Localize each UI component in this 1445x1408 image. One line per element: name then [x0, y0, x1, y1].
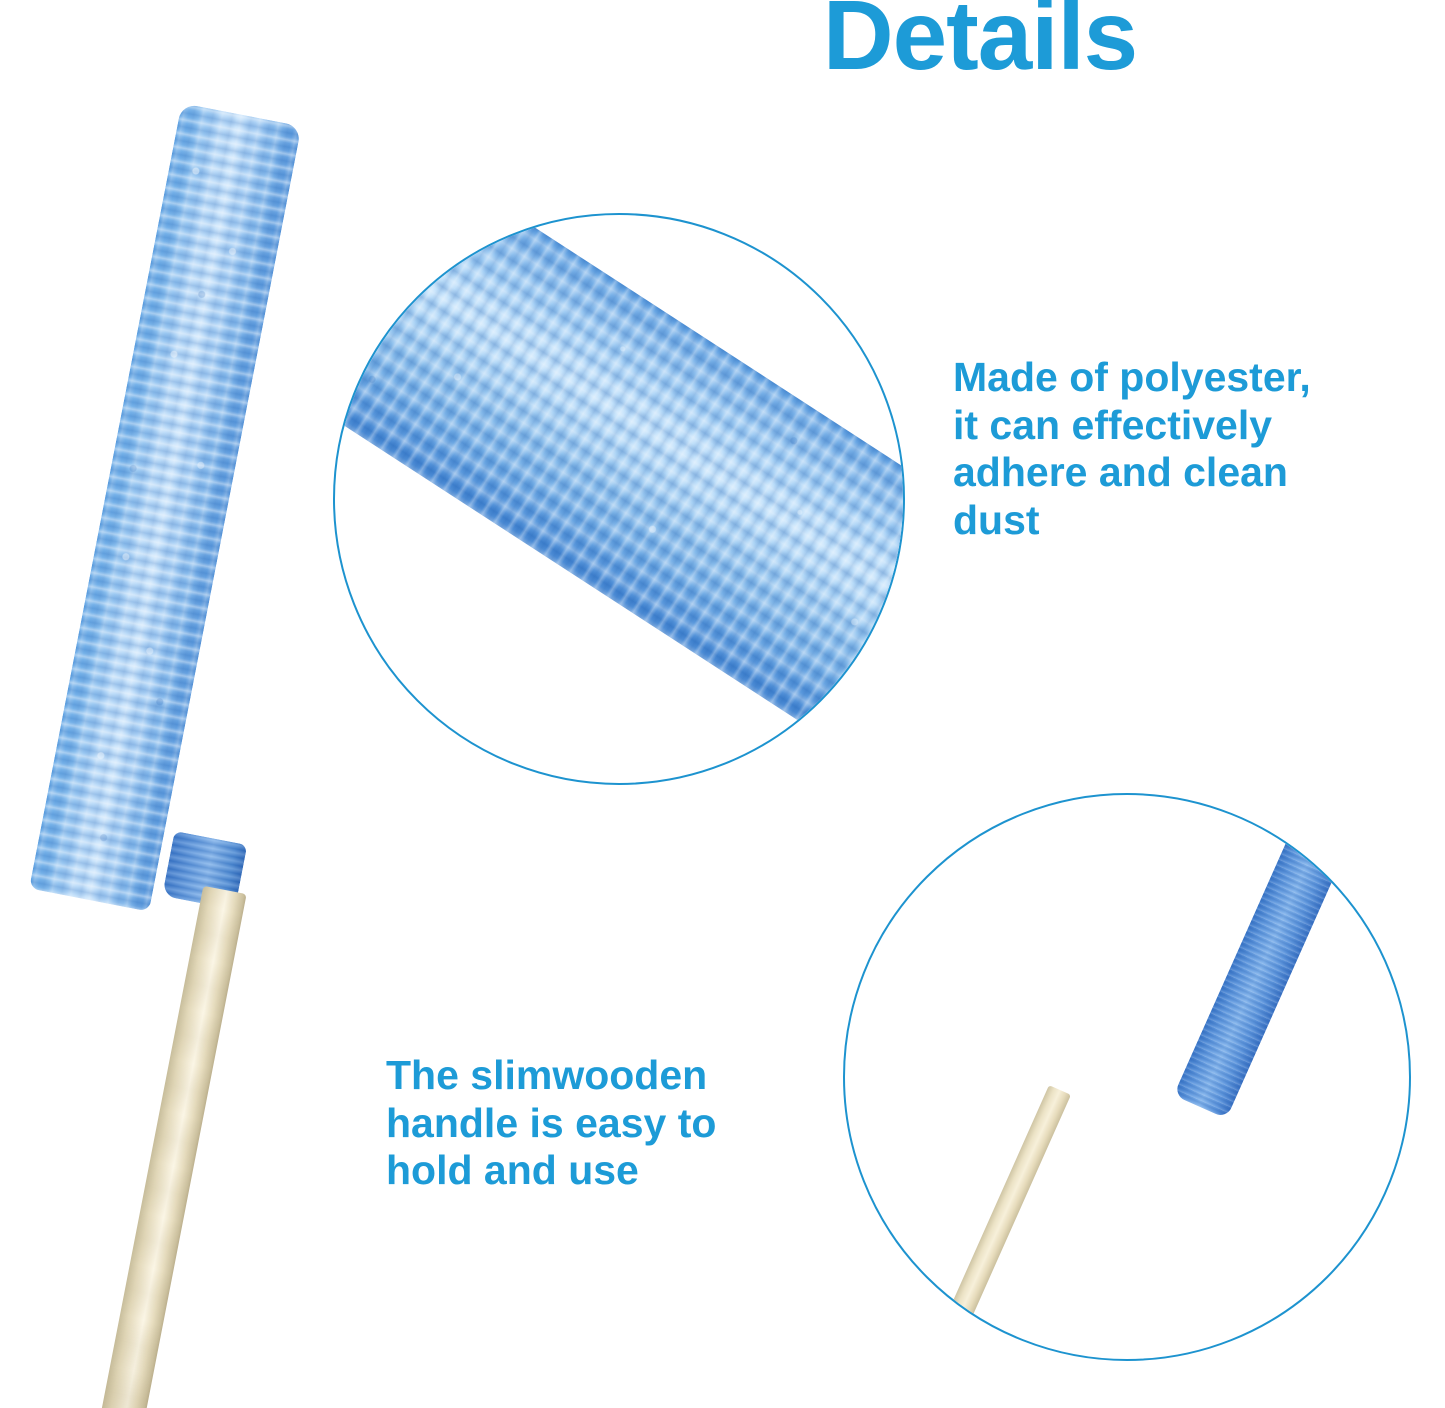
caption-line: dust [953, 497, 1445, 545]
inset-circle-fabric-closeup [333, 213, 905, 785]
inset-microfiber-sleeve [1174, 793, 1381, 1119]
product-duster-head [29, 103, 301, 912]
caption-line: The slimwooden [386, 1052, 856, 1100]
product-detail-infographic: Details Made of polyester, it can effect… [0, 0, 1445, 1408]
caption-line: adhere and clean [953, 449, 1445, 497]
page-title: Details [690, 0, 1270, 87]
caption-line: hold and use [386, 1147, 856, 1195]
caption-line: handle is easy to [386, 1100, 856, 1148]
caption-line: it can effectively [953, 402, 1445, 450]
feature-caption-polyester: Made of polyester, it can effectively ad… [953, 354, 1445, 544]
product-wooden-handle [100, 886, 246, 1408]
caption-line: Made of polyester, [953, 354, 1445, 402]
feature-caption-handle: The slimwooden handle is easy to hold an… [386, 1052, 856, 1195]
inset-circle-handle-joint [843, 793, 1411, 1361]
inset-wooden-handle [927, 1085, 1071, 1361]
microfiber-fabric-texture [333, 213, 905, 785]
